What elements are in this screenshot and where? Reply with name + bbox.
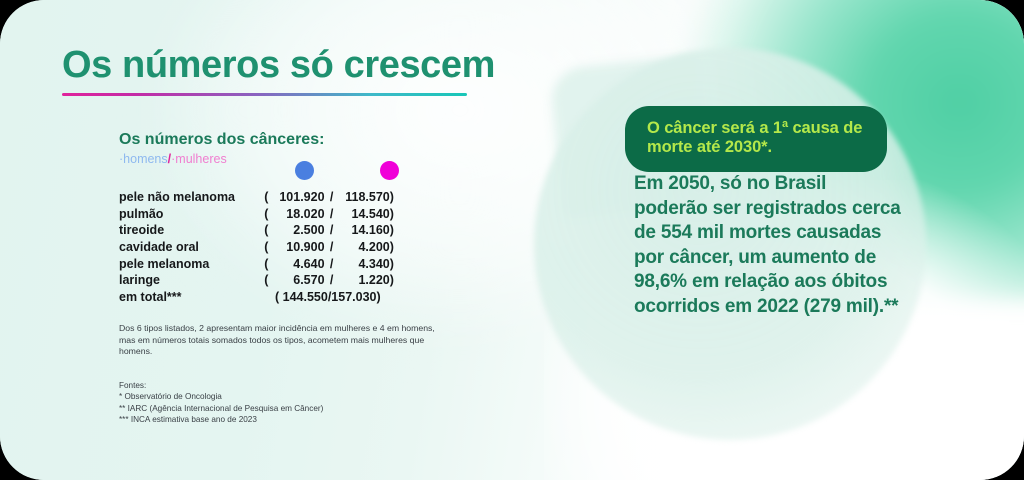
table-note: Dos 6 tipos listados, 2 apresentam maior…	[119, 323, 449, 358]
sources-list: * Observatório de Oncologia** IARC (Agên…	[119, 391, 449, 425]
row-men-value-3: 10.900	[273, 240, 324, 257]
row-slash-3: /	[325, 240, 339, 257]
infographic-card: Os números só crescem Os números dos cân…	[0, 0, 1024, 480]
row-paren-close-0: )	[390, 190, 399, 207]
row-men-value-5: 6.570	[273, 273, 324, 290]
row-men-value-2: 2.500	[273, 223, 324, 240]
source-item-0: * Observatório de Oncologia	[119, 391, 449, 402]
table-row: laringe(6.570/1.220)	[119, 273, 399, 290]
row-women-value-1: 14.540	[339, 207, 390, 224]
row-slash-1: /	[325, 207, 339, 224]
source-item-2: *** INCA estimativa base ano de 2023	[119, 414, 449, 425]
stats-panel: Os números só crescem Os números dos cân…	[0, 0, 520, 480]
row-women-value-0: 118.570	[339, 190, 390, 207]
row-paren-close-1: )	[390, 207, 399, 224]
table-row: pele melanoma(4.640/4.340)	[119, 257, 399, 274]
row-paren-close-3: )	[390, 240, 399, 257]
highlight-body-text: Em 2050, só no Brasil poderão ser regist…	[634, 172, 902, 320]
legend-women-label: ·mulheres	[171, 152, 227, 166]
row-label-1: pulmão	[119, 207, 264, 224]
total-value: ( 144.550/157.030)	[275, 290, 381, 304]
row-paren-close-4: )	[390, 257, 399, 274]
row-men-value-4: 4.640	[273, 257, 324, 274]
callout-banner: O câncer será a 1ª causa de morte até 20…	[625, 106, 887, 172]
total-label: em total***	[119, 290, 275, 304]
page-title: Os números só crescem	[62, 44, 495, 87]
row-paren-open-3: (	[264, 240, 273, 257]
title-underline-rule	[62, 93, 467, 96]
cancer-figures-table: pele não melanoma(101.920/118.570)pulmão…	[119, 190, 399, 290]
row-paren-open-0: (	[264, 190, 273, 207]
row-slash-5: /	[325, 273, 339, 290]
row-women-value-5: 1.220	[339, 273, 390, 290]
table-row: tireoide(2.500/14.160)	[119, 223, 399, 240]
source-item-1: ** IARC (Agência Internacional de Pesqui…	[119, 403, 449, 414]
row-paren-open-1: (	[264, 207, 273, 224]
stats-subtitle: Os números dos cânceres:	[119, 131, 324, 149]
table-row: pulmão(18.020/14.540)	[119, 207, 399, 224]
row-slash-0: /	[325, 190, 339, 207]
table-total-row: em total***( 144.550/157.030)	[119, 290, 399, 304]
row-paren-close-5: )	[390, 273, 399, 290]
row-paren-open-2: (	[264, 223, 273, 240]
row-label-4: pele melanoma	[119, 257, 264, 274]
row-slash-4: /	[325, 257, 339, 274]
row-women-value-3: 4.200	[339, 240, 390, 257]
row-label-0: pele não melanoma	[119, 190, 264, 207]
legend-men-dot	[295, 161, 314, 180]
sources-heading: Fontes:	[119, 380, 449, 391]
row-women-value-4: 4.340	[339, 257, 390, 274]
row-label-3: cavidade oral	[119, 240, 264, 257]
row-men-value-1: 18.020	[273, 207, 324, 224]
table-body: pele não melanoma(101.920/118.570)pulmão…	[119, 190, 399, 290]
row-label-5: laringe	[119, 273, 264, 290]
legend-women-dot	[380, 161, 399, 180]
table-row: pele não melanoma(101.920/118.570)	[119, 190, 399, 207]
row-paren-open-4: (	[264, 257, 273, 274]
row-paren-open-5: (	[264, 273, 273, 290]
row-slash-2: /	[325, 223, 339, 240]
row-men-value-0: 101.920	[273, 190, 324, 207]
sources-block: Fontes: * Observatório de Oncologia** IA…	[119, 380, 449, 426]
legend: ·homens/·mulheres	[119, 152, 227, 166]
row-label-2: tireoide	[119, 223, 264, 240]
row-women-value-2: 14.160	[339, 223, 390, 240]
row-paren-close-2: )	[390, 223, 399, 240]
table-row: cavidade oral(10.900/4.200)	[119, 240, 399, 257]
legend-men-label: ·homens	[119, 152, 168, 166]
